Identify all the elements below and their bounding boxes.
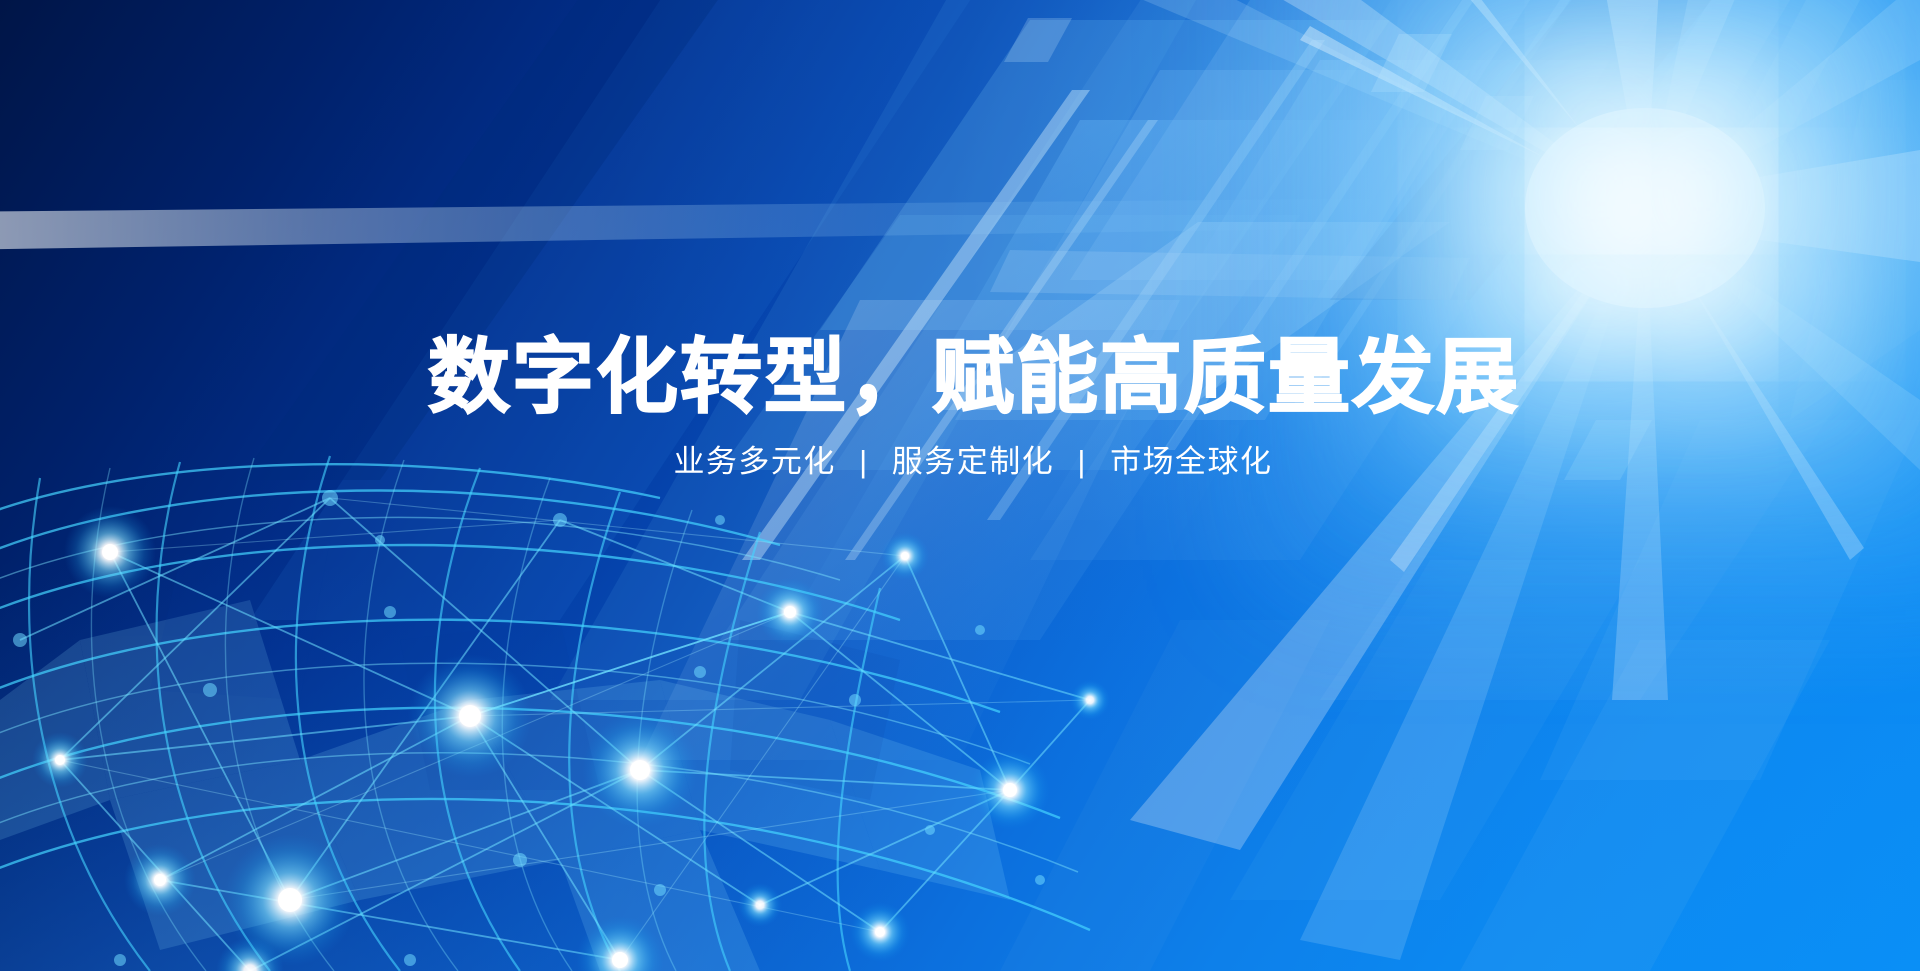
- subtitle-part-3: 市场全球化: [1110, 444, 1273, 479]
- subtitle-part-2: 服务定制化: [892, 444, 1055, 479]
- title-block: 数字化转型，赋能高质量发展 业务多元化 | 服务定制化 | 市场全球化: [0, 330, 1920, 486]
- page-title: 数字化转型，赋能高质量发展: [0, 330, 1920, 426]
- subtitle-separator-2: |: [1064, 444, 1100, 479]
- subtitle-part-1: 业务多元化: [673, 444, 836, 479]
- subtitle: 业务多元化 | 服务定制化 | 市场全球化: [0, 438, 1920, 486]
- network-node: [32, 506, 1110, 971]
- banner-root: 数字化转型，赋能高质量发展 业务多元化 | 服务定制化 | 市场全球化: [0, 0, 1920, 971]
- subtitle-separator-1: |: [846, 444, 882, 479]
